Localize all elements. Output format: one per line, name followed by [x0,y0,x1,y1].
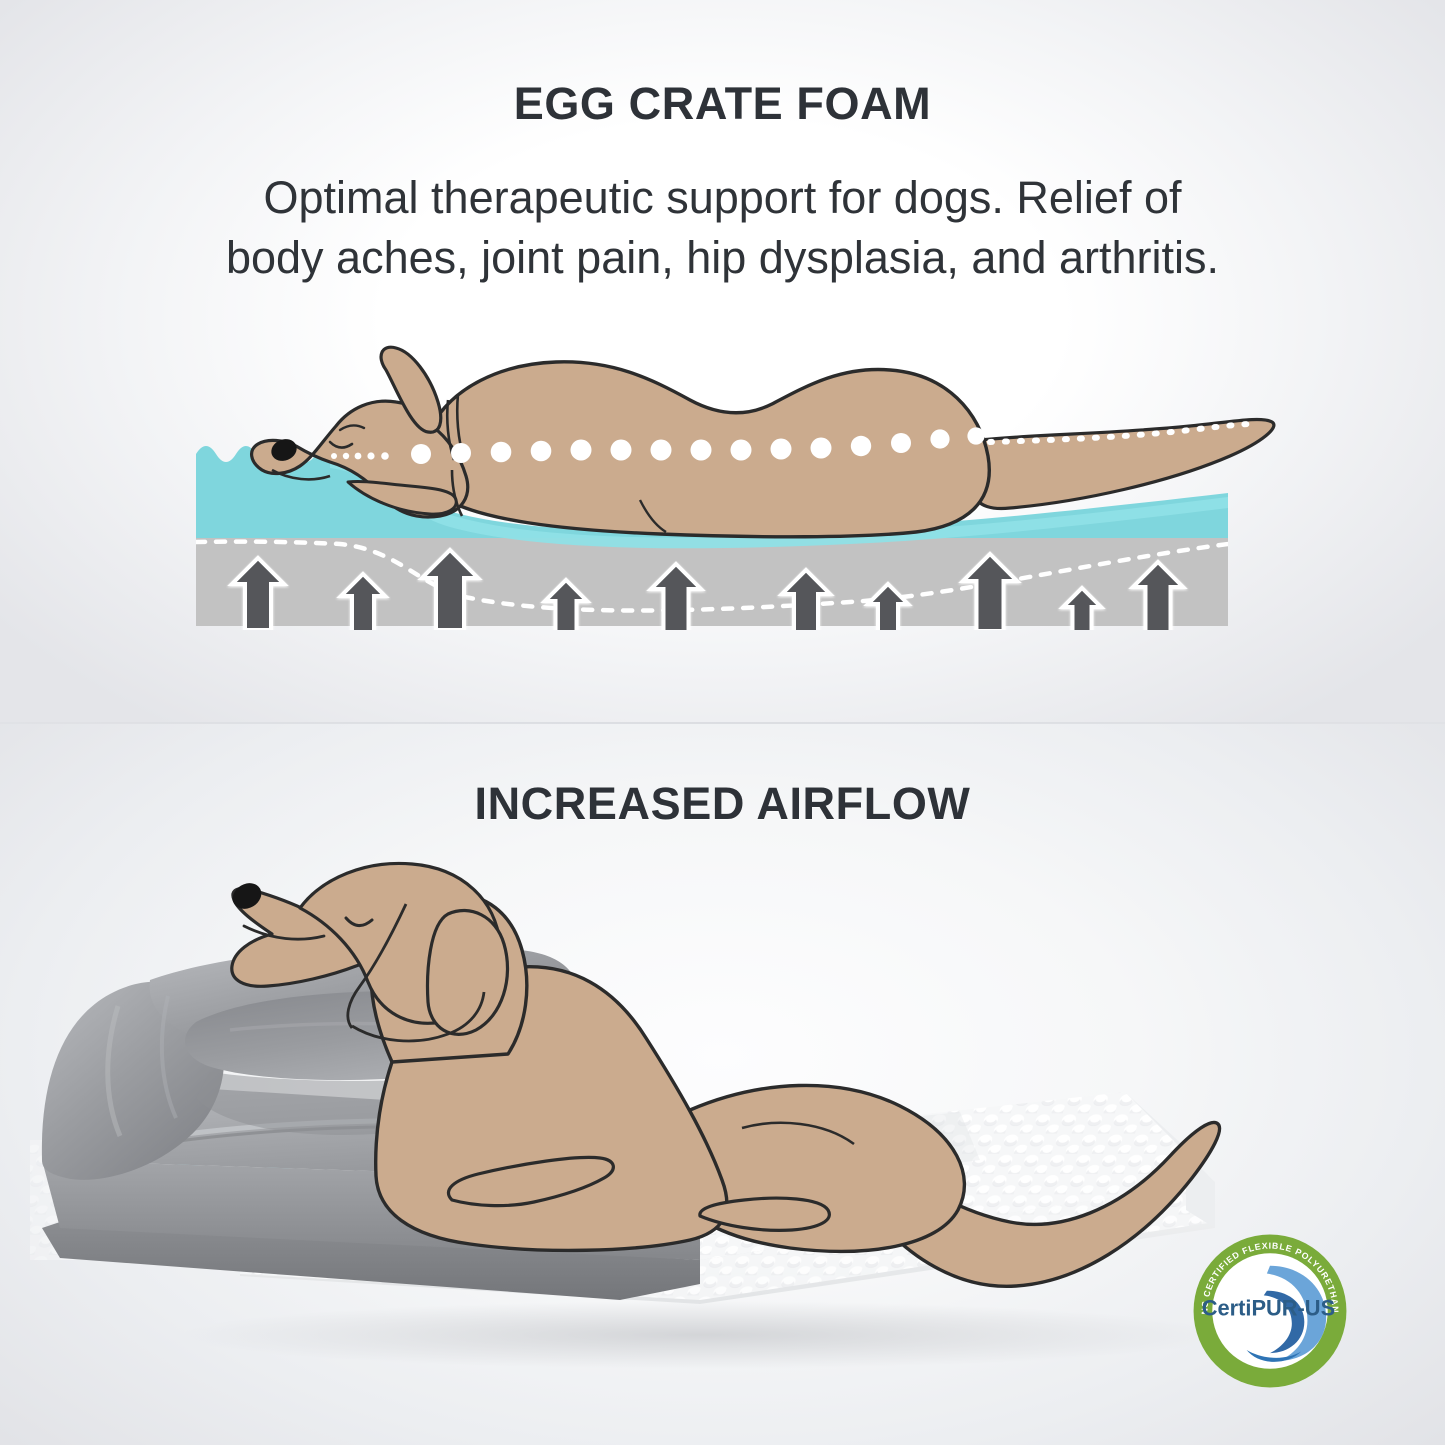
page-title-increased-airflow: INCREASED AIRFLOW [0,778,1445,830]
section-divider [0,722,1445,724]
egg-crate-cross-section-diagram [0,330,1445,670]
subtitle-line-2: body aches, joint pain, hip dysplasia, a… [50,228,1395,288]
certipur-us-seal: CONTAINS CERTIFIED FLEXIBLE POLYURETHANE… [1192,1233,1348,1389]
badge-registered-mark: ® [1326,1298,1332,1307]
badge-brand-text: CertiPUR-US [1202,1296,1335,1321]
subtitle-line-1: Optimal therapeutic support for dogs. Re… [50,168,1395,228]
infographic-stage: EGG CRATE FOAM Optimal therapeutic suppo… [0,0,1445,1445]
page-title-egg-crate-foam: EGG CRATE FOAM [0,78,1445,130]
ground-shadow [180,1301,1220,1369]
dog-tail [976,419,1274,508]
subtitle-text: Optimal therapeutic support for dogs. Re… [50,168,1395,289]
